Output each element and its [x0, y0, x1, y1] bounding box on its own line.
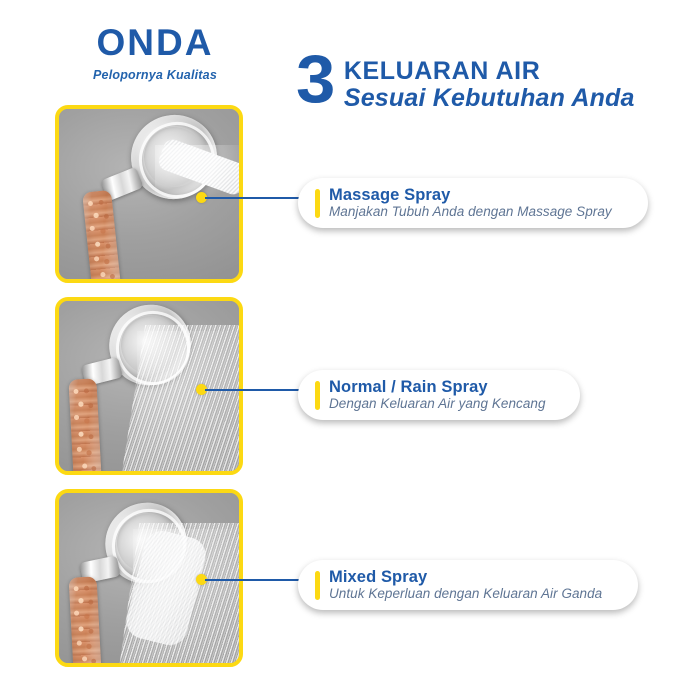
headline-text-block: KELUARAN AIR Sesuai Kebutuhan Anda — [344, 52, 635, 113]
shower-handle-mineral-beads — [68, 378, 101, 475]
mineral-beads — [69, 576, 102, 667]
mineral-beads — [82, 190, 121, 283]
feature-callout-rain[interactable]: Normal / Rain Spray Dengan Keluaran Air … — [298, 370, 580, 420]
product-image-panel-mixed — [55, 489, 243, 667]
feature-text-block: Massage Spray Manjakan Tubuh Anda dengan… — [329, 186, 612, 220]
shower-handle-mineral-beads — [69, 576, 102, 667]
shower-head-massage-illustration — [59, 109, 239, 279]
feature-title: Massage Spray — [329, 186, 612, 204]
product-image-panel-rain — [55, 297, 243, 475]
mineral-beads — [68, 378, 101, 475]
shower-head-rain-illustration — [59, 301, 239, 471]
feature-subtitle: Dengan Keluaran Air yang Kencang — [329, 397, 546, 412]
feature-text-block: Normal / Rain Spray Dengan Keluaran Air … — [329, 378, 546, 412]
feature-title: Normal / Rain Spray — [329, 378, 546, 396]
headline-line-2: Sesuai Kebutuhan Anda — [344, 84, 635, 113]
feature-title: Mixed Spray — [329, 568, 602, 586]
shower-head-mixed-illustration — [59, 493, 239, 663]
feature-callout-massage[interactable]: Massage Spray Manjakan Tubuh Anda dengan… — [298, 178, 648, 228]
page-title: 3 KELUARAN AIR Sesuai Kebutuhan Anda — [296, 52, 635, 113]
accent-bar-icon — [315, 381, 320, 410]
shower-handle-mineral-beads — [82, 190, 121, 283]
feature-subtitle: Manjakan Tubuh Anda dengan Massage Spray — [329, 205, 612, 220]
headline-number: 3 — [296, 52, 335, 108]
connector-line-mixed — [205, 579, 301, 581]
connector-line-rain — [205, 389, 301, 391]
headline-line-1: KELUARAN AIR — [344, 58, 635, 84]
accent-bar-icon — [315, 189, 320, 218]
feature-callout-mixed[interactable]: Mixed Spray Untuk Keperluan dengan Kelua… — [298, 560, 638, 610]
connector-line-massage — [205, 197, 301, 199]
water-mist — [133, 529, 243, 665]
accent-bar-icon — [315, 571, 320, 600]
feature-subtitle: Untuk Keperluan dengan Keluaran Air Gand… — [329, 587, 602, 602]
water-mist — [137, 331, 243, 471]
brand-logo: ONDA Pelopornya Kualitas — [50, 24, 260, 82]
brand-name: ONDA — [50, 24, 260, 61]
feature-text-block: Mixed Spray Untuk Keperluan dengan Kelua… — [329, 568, 602, 602]
brand-tagline: Pelopornya Kualitas — [50, 68, 260, 82]
product-image-panel-massage — [55, 105, 243, 283]
